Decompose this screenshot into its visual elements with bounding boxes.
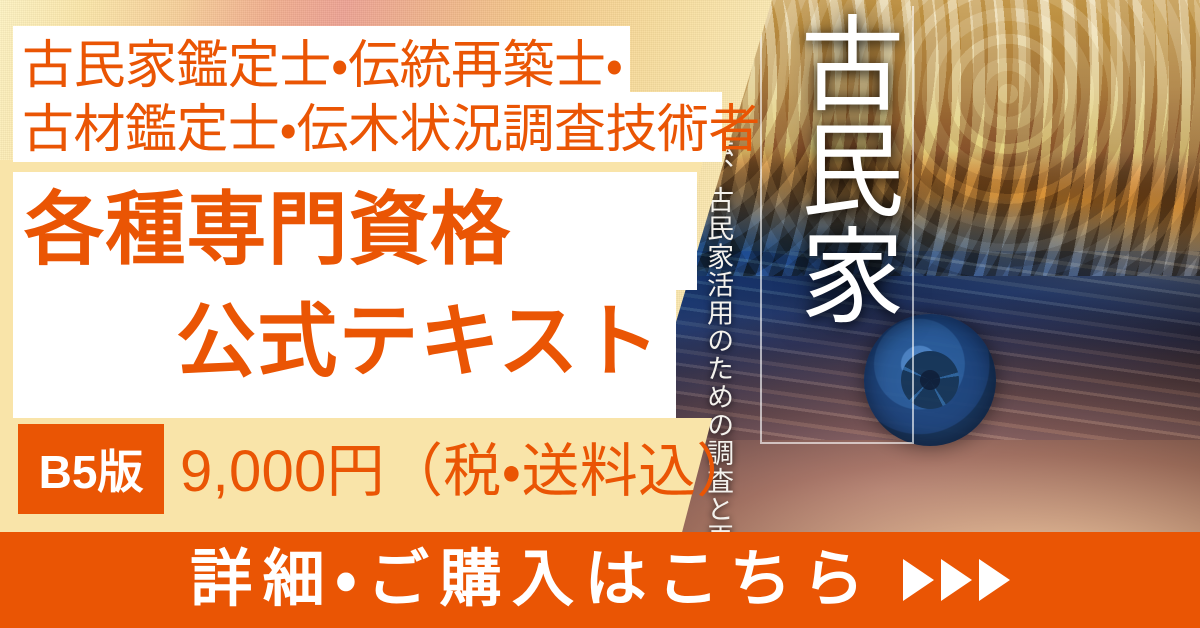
- triangle-right-icon: [941, 559, 972, 601]
- cta-label: 詳細・ご購入はこちら: [190, 549, 874, 611]
- price-label: 9,000円（税・送料込）: [180, 434, 755, 509]
- cover-title: 古民家: [770, 10, 902, 328]
- triangle-right-icon: [979, 559, 1010, 601]
- format-badge: B5版: [18, 424, 164, 514]
- qualification-line2: 古材鑑定士・伝木状況調査技術者: [22, 104, 760, 156]
- triangle-right-icon: [903, 559, 934, 601]
- qualification-line1: 古民家鑑定士・伝統再築士・: [22, 40, 623, 92]
- cta-arrow-group: [903, 559, 1010, 601]
- headline-line1: 各種専門資格: [24, 190, 511, 270]
- cta-button[interactable]: 詳細・ご購入はこちら: [0, 532, 1200, 628]
- headline-line2: 公式テキスト: [176, 302, 661, 382]
- family-crest-medallion: [864, 314, 996, 446]
- promo-banner: 伝統構法、古民家活用のための調査と再生の 古民家 古民家鑑定士・伝統再築士・ 古…: [0, 0, 1200, 628]
